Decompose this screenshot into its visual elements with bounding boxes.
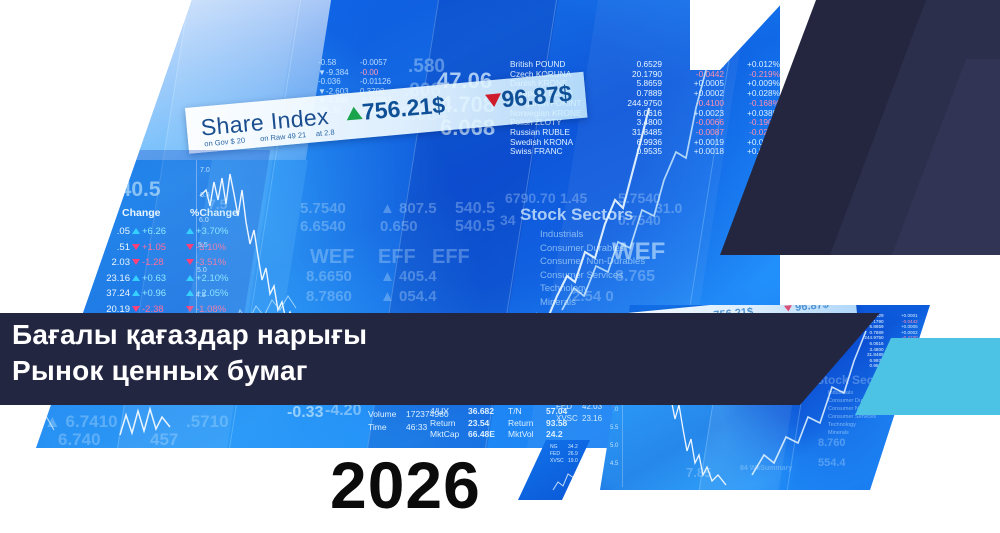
currency-pct: +0.028% [724, 89, 780, 99]
ticker-value: 7.85 [686, 465, 711, 480]
ticker-code-eff1: EFF [378, 246, 416, 269]
currency-pct: -0.168% [724, 99, 780, 109]
change-value: +0.63 [142, 271, 184, 287]
wedge-sparkline [552, 460, 586, 494]
year-label: 2026 [330, 447, 481, 523]
y-tick-label: 4.5 [610, 461, 618, 467]
share-index-up-value: 756.21$ [345, 91, 446, 127]
ticker-value: 6.6540 [300, 218, 346, 235]
y-tick-label: 5.0 [197, 267, 207, 274]
summary-label: MktVol [508, 429, 546, 441]
big-number: 540.5 [108, 178, 161, 202]
summary-value: 24.2 [546, 429, 588, 441]
y-tick-label: 4.5 [196, 292, 206, 299]
ticker-value: 8.7860 [306, 288, 352, 305]
delta-value: -0.33 [287, 404, 323, 422]
ticker-value: ▲ 405.4 [380, 268, 437, 285]
change-arrow [130, 271, 142, 287]
volume-row: Time46:33 [368, 421, 462, 434]
volume-label: Volume [368, 408, 406, 421]
ticker-value: .5710 [186, 412, 229, 432]
ticker-symbol: XVSC [556, 413, 582, 425]
triangle-up-icon [132, 228, 140, 234]
volume-value: 172374980 [406, 408, 462, 421]
change-arrow [130, 240, 142, 256]
mini-sparkline [118, 405, 178, 445]
title-russian: Рынок ценных бумаг [12, 355, 308, 387]
ticker-value: 6.740 [58, 430, 101, 448]
title-kazakh: Бағалы қағаздар нарығы [12, 319, 367, 351]
share-index-sub-right: at 2.8 [315, 128, 335, 139]
change-last: .05 [96, 224, 130, 240]
currency-pct: +0.009% [724, 79, 780, 89]
change-arrow-2 [184, 224, 196, 240]
triangle-up-icon [132, 290, 140, 296]
slide-canvas: -0.58-0.0057 ▼-9.384-0.00 -0.036-0.01126… [0, 0, 1000, 533]
change-value: +1.05 [142, 240, 184, 256]
triangle-up-icon [186, 228, 194, 234]
triangle-up-icon [346, 106, 363, 120]
summary-value: 36.682 [468, 406, 510, 418]
y-tick-label: 5.5 [198, 242, 208, 249]
mini-sparkline-2 [14, 404, 64, 446]
triangle-up-icon [132, 275, 140, 281]
volume-table: Volume172374980Time46:33 [368, 408, 462, 434]
y-tick-label: 6.0 [199, 217, 209, 224]
ticker-value: ▲ 054.4 [380, 288, 437, 305]
triangle-down-icon [186, 244, 194, 250]
ticker-value: .57 [0, 416, 24, 436]
ticker-code-wef: WEF [310, 246, 354, 269]
y-tick-label: 5.5 [610, 425, 618, 431]
summary-value: 23.54 [468, 418, 510, 430]
triangle-down-icon [186, 259, 194, 265]
change-last: 2.03 [96, 255, 130, 271]
currency-pct: +0.012% [724, 60, 780, 70]
triangle-down-icon [784, 305, 793, 312]
y-tick-label: 7.0 [200, 167, 210, 174]
ticker-value: 7.5 [208, 196, 227, 212]
ticker-value: 8.6650 [306, 268, 352, 285]
triangle-down-icon [132, 259, 140, 265]
y-tick-label: 5.0 [610, 443, 618, 449]
change-value: -1.28 [142, 255, 184, 271]
share-index-up-text: 756.21$ [361, 91, 446, 124]
rising-trend-line-2 [560, 60, 710, 320]
ticker-value: 0.650 [380, 218, 418, 235]
volume-row: Volume172374980 [368, 408, 462, 421]
volume-label: Time [368, 421, 406, 434]
summary-label: Return [508, 418, 546, 430]
change-arrow [130, 224, 142, 240]
ticker-value: ▲ 807.5 [380, 200, 437, 217]
change-value: +6.26 [142, 224, 184, 240]
currency-pct: -0.219% [724, 70, 780, 80]
change-arrow [130, 255, 142, 271]
accent-wedge-image: NG34.2 FED26.9 XVSC19.0 [500, 440, 590, 500]
change-arrow-2 [184, 240, 196, 256]
ticker-value: 5.7540 [300, 200, 346, 217]
summary-row: MktVol24.2 [508, 429, 588, 441]
triangle-down-icon [132, 244, 140, 250]
summary-value: 66.48E [468, 429, 510, 441]
ticker-price: 23.16 [582, 413, 612, 425]
change-last: 23.16 [96, 271, 130, 287]
volume-value: 46:33 [406, 421, 462, 434]
change-column-header: Change [122, 207, 161, 219]
change-last: .51 [96, 240, 130, 256]
currency-pct: +0.038% [724, 109, 780, 119]
summary-label: T/N [508, 406, 546, 418]
